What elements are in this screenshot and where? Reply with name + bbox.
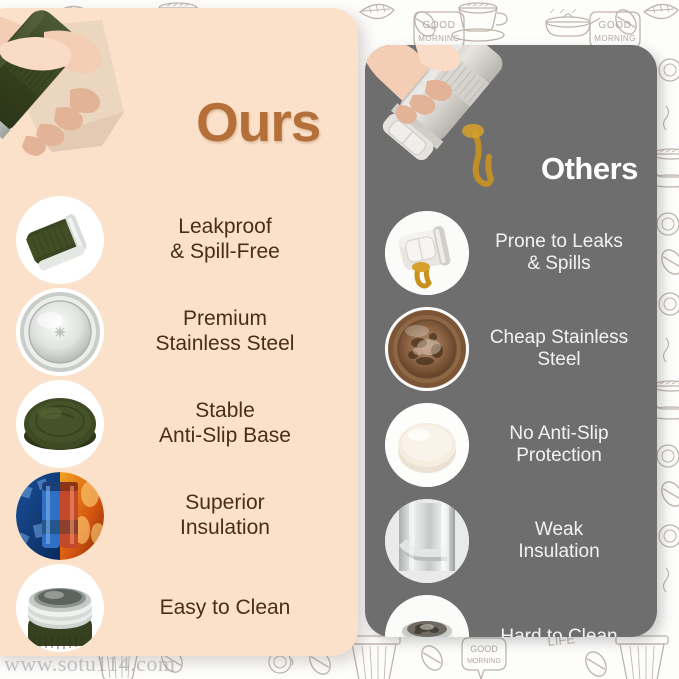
others-hero: Others xyxy=(365,45,657,205)
others-title: Others xyxy=(541,151,638,187)
others-feature-row-2: Cheap Stainless Steel xyxy=(365,301,657,397)
stainless-steel-interior-thumb xyxy=(16,288,104,376)
others-feature-label-3: No Anti-Slip Protection xyxy=(469,423,657,467)
ours-feature-row-2: Premium Stainless Steel xyxy=(0,286,358,378)
ours-feature-row-3: Stable Anti-Slip Base xyxy=(0,378,358,470)
ours-feature-row-1: Leakproof & Spill-Free xyxy=(0,194,358,286)
hand-holding-leaking-white-tumbler-image xyxy=(365,45,545,202)
green-anti-slip-base-thumb xyxy=(16,380,104,468)
ours-feature-row-4: Superior Insulation xyxy=(0,470,358,562)
others-feature-label-4: Weak Insulation xyxy=(469,519,657,563)
plain-flat-base-thumb xyxy=(385,403,469,487)
others-feature-row-5: Hard to Clean xyxy=(365,589,657,637)
others-feature-row-4: Weak Insulation xyxy=(365,493,657,589)
watermark-text: www.sotu114.com xyxy=(4,651,175,677)
svg-text:GOOD: GOOD xyxy=(599,20,632,31)
leaking-white-lid-thumb xyxy=(385,211,469,295)
thin-metal-wall-thumb xyxy=(385,499,469,583)
comparison-infographic: GOOD MORNING GOOD MORNING GOOD MORNING xyxy=(0,0,679,679)
ours-panel: Ours xyxy=(0,8,358,656)
ours-title: Ours xyxy=(196,90,320,154)
ours-feature-row-5: Easy to Clean xyxy=(0,562,358,654)
ours-feature-label-4: Superior Insulation xyxy=(104,491,358,540)
dirty-narrow-opening-thumb xyxy=(385,595,469,637)
ice-and-fire-insulation-thumb xyxy=(16,472,104,560)
others-feature-label-1: Prone to Leaks & Spills xyxy=(469,231,657,275)
ours-feature-label-5: Easy to Clean xyxy=(104,596,358,621)
others-feature-label-5: Hard to Clean xyxy=(469,626,657,637)
svg-text:GOOD: GOOD xyxy=(470,644,498,654)
green-lid-closeup-thumb xyxy=(16,196,104,284)
svg-text:MORNING: MORNING xyxy=(594,34,635,43)
others-feature-row-3: No Anti-Slip Protection xyxy=(365,397,657,493)
svg-text:MORNING: MORNING xyxy=(418,34,459,43)
wide-mouth-opening-thumb xyxy=(16,564,104,652)
ours-hero: Ours xyxy=(0,8,358,198)
others-feature-list: Prone to Leaks & Spills xyxy=(365,205,657,637)
others-panel: Others xyxy=(365,45,657,637)
ours-feature-label-1: Leakproof & Spill-Free xyxy=(104,215,358,264)
rusty-stained-interior-thumb xyxy=(385,307,469,391)
ours-feature-list: Leakproof & Spill-Free xyxy=(0,194,358,654)
ours-feature-label-3: Stable Anti-Slip Base xyxy=(104,399,358,448)
svg-text:GOOD: GOOD xyxy=(423,20,456,31)
svg-text:MORNING: MORNING xyxy=(467,658,501,665)
ours-feature-label-2: Premium Stainless Steel xyxy=(104,307,358,356)
others-feature-label-2: Cheap Stainless Steel xyxy=(469,327,657,371)
others-feature-row-1: Prone to Leaks & Spills xyxy=(365,205,657,301)
